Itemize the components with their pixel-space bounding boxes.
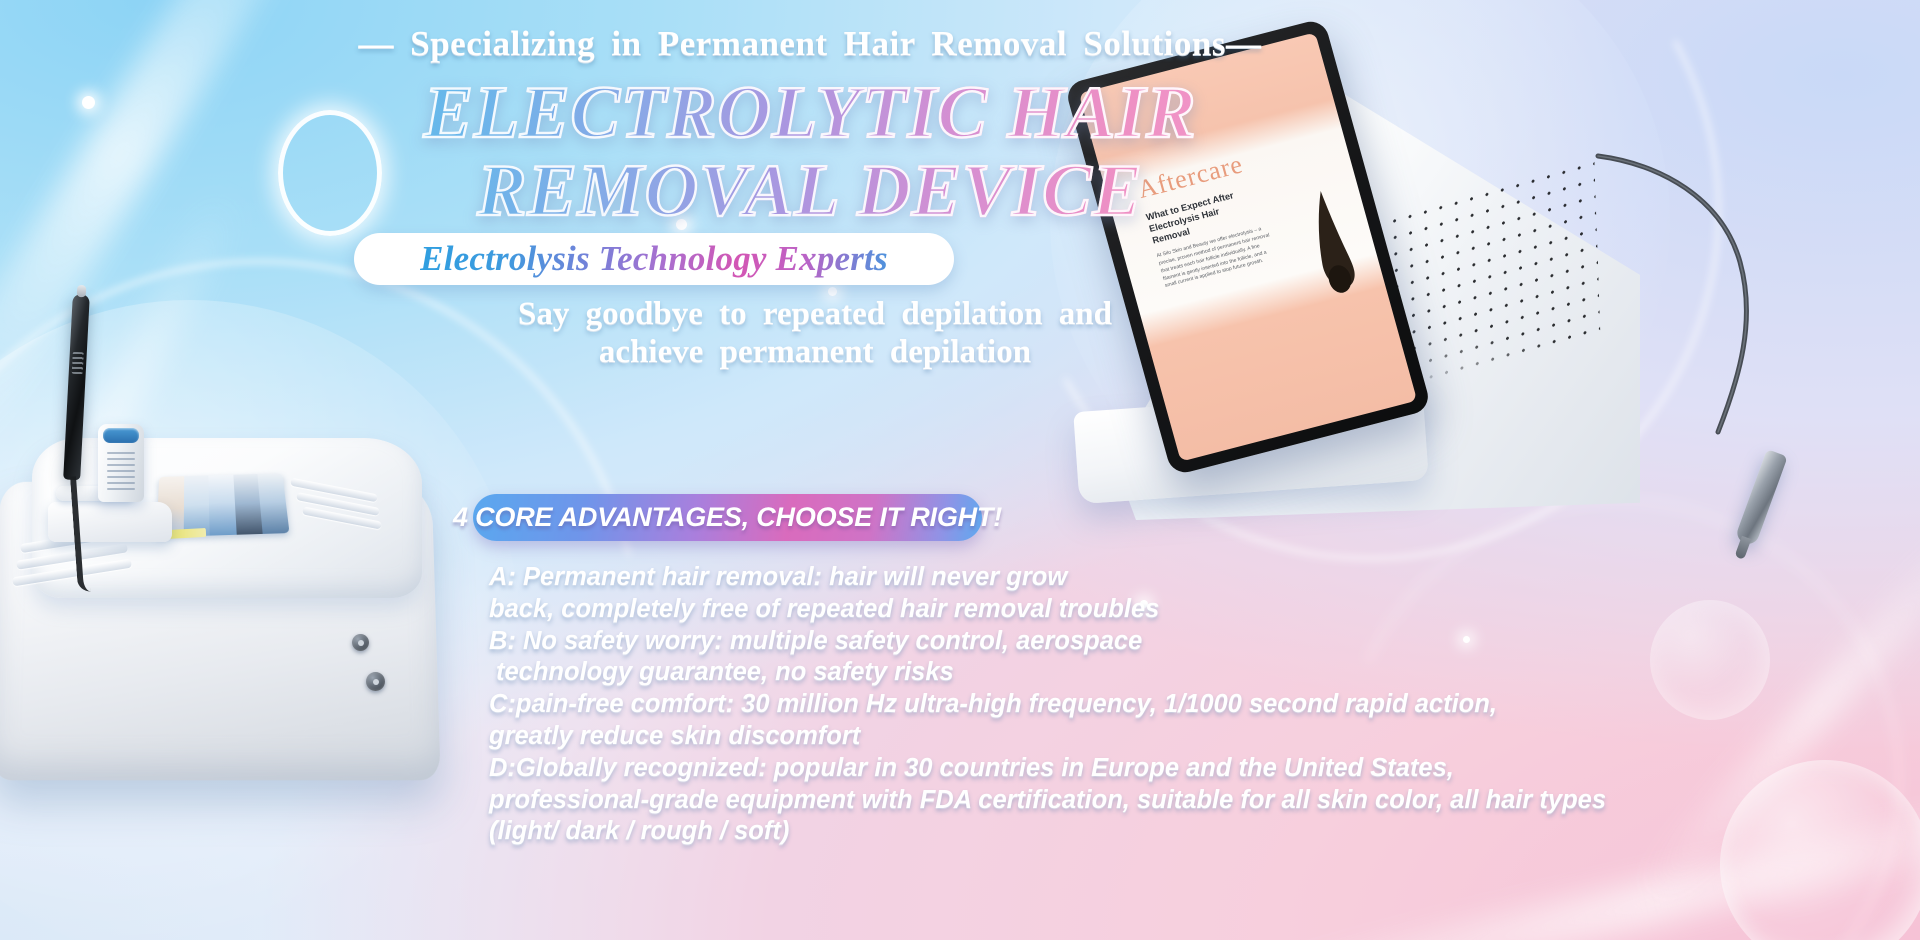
promotional-banner: Aftercare What to Expect After Electroly… [0, 0, 1920, 940]
advantage-line: A: Permanent hair removal: hair will nev… [489, 562, 1889, 594]
banner-text-content: — Specializing in Permanent Hair Removal… [0, 0, 1920, 940]
advantage-line: C:pain-free comfort: 30 million Hz ultra… [489, 689, 1889, 721]
advantage-line: greatly reduce skin discomfort [489, 721, 1889, 753]
advantage-line: (light/ dark / rough / soft) [489, 816, 1889, 848]
expert-badge-label: Electrolysis Technology Experts [420, 239, 888, 279]
advantages-list: A: Permanent hair removal: hair will nev… [489, 562, 1889, 848]
subline-1: Say goodbye to repeated depilation and [320, 296, 1310, 334]
expert-badge: Electrolysis Technology Experts [354, 233, 954, 285]
tagline: — Specializing in Permanent Hair Removal… [300, 24, 1320, 64]
advantage-line: D:Globally recognized: popular in 30 cou… [489, 753, 1889, 785]
advantage-line: B: No safety worry: multiple safety cont… [489, 626, 1889, 658]
cta-banner[interactable]: 4 CORE ADVANTAGES, CHOOSE IT RIGHT! [473, 494, 982, 541]
page-title-line-2: REMOVAL DEVICE [300, 154, 1320, 229]
subline-2: achieve permanent depilation [320, 334, 1310, 372]
advantage-line: technology guarantee, no safety risks [489, 657, 1889, 689]
advantage-line: professional-grade equipment with FDA ce… [489, 785, 1889, 817]
cta-banner-label: 4 CORE ADVANTAGES, CHOOSE IT RIGHT! [453, 502, 1002, 533]
page-title-line-1: ELECTROLYTIC HAIR [300, 76, 1320, 151]
advantage-line: back, completely free of repeated hair r… [489, 594, 1889, 626]
